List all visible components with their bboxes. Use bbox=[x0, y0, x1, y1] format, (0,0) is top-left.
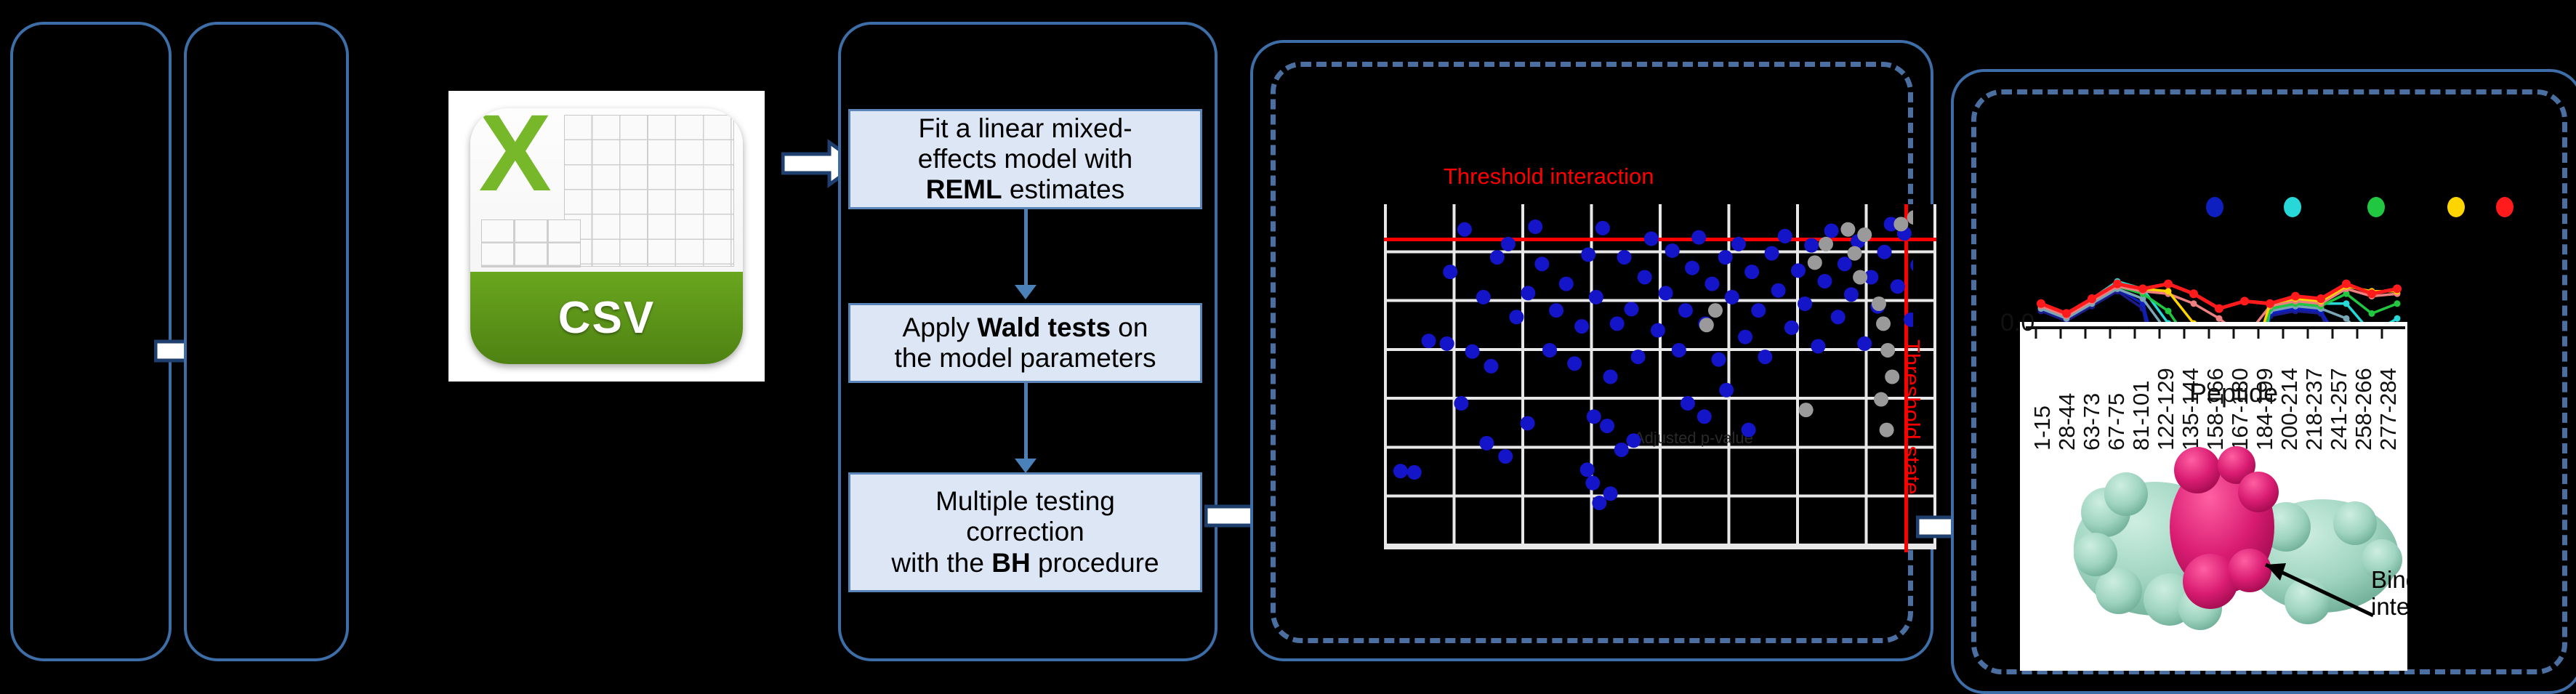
binding-interface-label: Binding interface bbox=[2371, 567, 2463, 621]
protein-structure bbox=[2068, 425, 2410, 643]
peptide-axis-title: Peptide bbox=[2189, 378, 2278, 408]
peptide-tick-1-15: 1-15 bbox=[2029, 405, 2056, 451]
binding-interface-line-1: Binding bbox=[2371, 567, 2463, 594]
ligand-peptide bbox=[2170, 446, 2279, 609]
binding-interface-line-2: interface bbox=[2371, 594, 2463, 621]
